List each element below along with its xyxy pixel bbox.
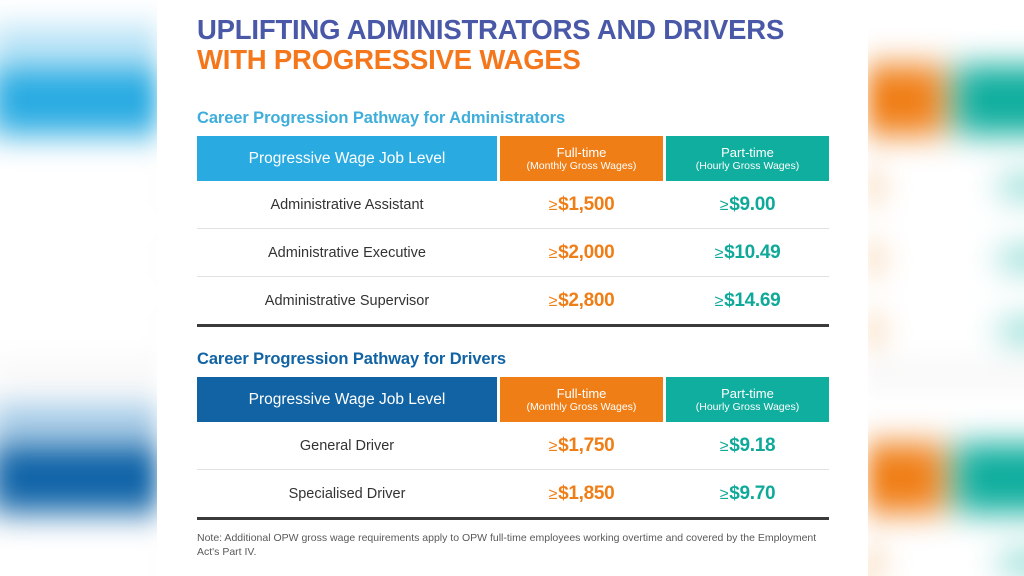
header-fulltime-sub: (Monthly Gross Wages) bbox=[500, 401, 663, 414]
table-row: Specialised Driver ≥$1,850 ≥$9.70 bbox=[197, 470, 829, 517]
parttime-amount: $9.00 bbox=[729, 194, 775, 215]
table-row: Administrative Supervisor ≥$2,800 ≥$14.6… bbox=[197, 277, 829, 324]
fulltime-amount: $1,850 bbox=[558, 483, 614, 504]
cell-fulltime-wage: ≥$1,500 bbox=[500, 181, 663, 229]
gte-symbol: ≥ bbox=[549, 245, 557, 262]
gte-symbol: ≥ bbox=[720, 438, 728, 455]
header-parttime-title: Part-time bbox=[666, 145, 829, 160]
cell-parttime-wage: ≥$9.70 bbox=[666, 470, 829, 517]
parttime-amount: $14.69 bbox=[724, 290, 780, 311]
table-row: Administrative Assistant ≥$1,500 ≥$9.00 bbox=[197, 181, 829, 229]
cell-fulltime-wage: ≥$1,750 bbox=[500, 422, 663, 470]
fulltime-amount: $2,000 bbox=[558, 242, 614, 263]
cell-job-level: Administrative Assistant bbox=[197, 181, 497, 229]
gte-symbol: ≥ bbox=[720, 486, 728, 503]
cell-fulltime-wage: ≥$2,800 bbox=[500, 277, 663, 324]
header-job-level: Progressive Wage Job Level bbox=[197, 136, 497, 181]
cell-parttime-wage: ≥$9.00 bbox=[666, 181, 829, 229]
gte-symbol: ≥ bbox=[549, 293, 557, 310]
table-row: Administrative Executive ≥$2,000 ≥$10.49 bbox=[197, 229, 829, 277]
cell-job-level: General Driver bbox=[197, 422, 497, 470]
footnote: Note: Additional OPW gross wage requirem… bbox=[197, 520, 825, 559]
section-heading-administrators: Career Progression Pathway for Administr… bbox=[197, 75, 831, 136]
page-title: UPLIFTING ADMINISTRATORS AND DRIVERS WIT… bbox=[197, 0, 831, 75]
header-fulltime-sub: (Monthly Gross Wages) bbox=[500, 160, 663, 173]
table-drivers: Progressive Wage Job Level Full-time (Mo… bbox=[197, 377, 829, 517]
table-header-row: Progressive Wage Job Level Full-time (Mo… bbox=[197, 377, 829, 422]
header-parttime: Part-time (Hourly Gross Wages) bbox=[666, 136, 829, 181]
cell-parttime-wage: ≥$14.69 bbox=[666, 277, 829, 324]
fulltime-amount: $1,500 bbox=[558, 194, 614, 215]
header-parttime: Part-time (Hourly Gross Wages) bbox=[666, 377, 829, 422]
header-job-level: Progressive Wage Job Level bbox=[197, 377, 497, 422]
cell-job-level: Administrative Supervisor bbox=[197, 277, 497, 324]
screenshot-stage: UPLIFTING ADMINISTRATORS AND DRIVERS WIT… bbox=[0, 0, 1024, 576]
table-administrators: Progressive Wage Job Level Full-time (Mo… bbox=[197, 136, 829, 324]
title-line-1: UPLIFTING ADMINISTRATORS AND DRIVERS bbox=[197, 15, 831, 45]
cell-parttime-wage: ≥$9.18 bbox=[666, 422, 829, 470]
fulltime-amount: $2,800 bbox=[558, 290, 614, 311]
infographic-card: UPLIFTING ADMINISTRATORS AND DRIVERS WIT… bbox=[157, 0, 868, 576]
parttime-amount: $10.49 bbox=[724, 242, 780, 263]
header-fulltime: Full-time (Monthly Gross Wages) bbox=[500, 377, 663, 422]
card-content: UPLIFTING ADMINISTRATORS AND DRIVERS WIT… bbox=[197, 0, 831, 559]
gte-symbol: ≥ bbox=[720, 197, 728, 214]
header-parttime-title: Part-time bbox=[666, 386, 829, 401]
header-parttime-sub: (Hourly Gross Wages) bbox=[666, 160, 829, 173]
cell-job-level: Administrative Executive bbox=[197, 229, 497, 277]
cell-fulltime-wage: ≥$2,000 bbox=[500, 229, 663, 277]
parttime-amount: $9.70 bbox=[729, 483, 775, 504]
gte-symbol: ≥ bbox=[715, 293, 723, 310]
header-fulltime-title: Full-time bbox=[500, 145, 663, 160]
gte-symbol: ≥ bbox=[549, 486, 557, 503]
parttime-amount: $9.18 bbox=[729, 435, 775, 456]
section-heading-drivers: Career Progression Pathway for Drivers bbox=[197, 327, 831, 377]
header-fulltime: Full-time (Monthly Gross Wages) bbox=[500, 136, 663, 181]
table-header-row: Progressive Wage Job Level Full-time (Mo… bbox=[197, 136, 829, 181]
cell-parttime-wage: ≥$10.49 bbox=[666, 229, 829, 277]
gte-symbol: ≥ bbox=[715, 245, 723, 262]
title-line-2: WITH PROGRESSIVE WAGES bbox=[197, 45, 831, 75]
cell-fulltime-wage: ≥$1,850 bbox=[500, 470, 663, 517]
gte-symbol: ≥ bbox=[549, 197, 557, 214]
header-fulltime-title: Full-time bbox=[500, 386, 663, 401]
table-row: General Driver ≥$1,750 ≥$9.18 bbox=[197, 422, 829, 470]
fulltime-amount: $1,750 bbox=[558, 435, 614, 456]
header-parttime-sub: (Hourly Gross Wages) bbox=[666, 401, 829, 414]
cell-job-level: Specialised Driver bbox=[197, 470, 497, 517]
gte-symbol: ≥ bbox=[549, 438, 557, 455]
